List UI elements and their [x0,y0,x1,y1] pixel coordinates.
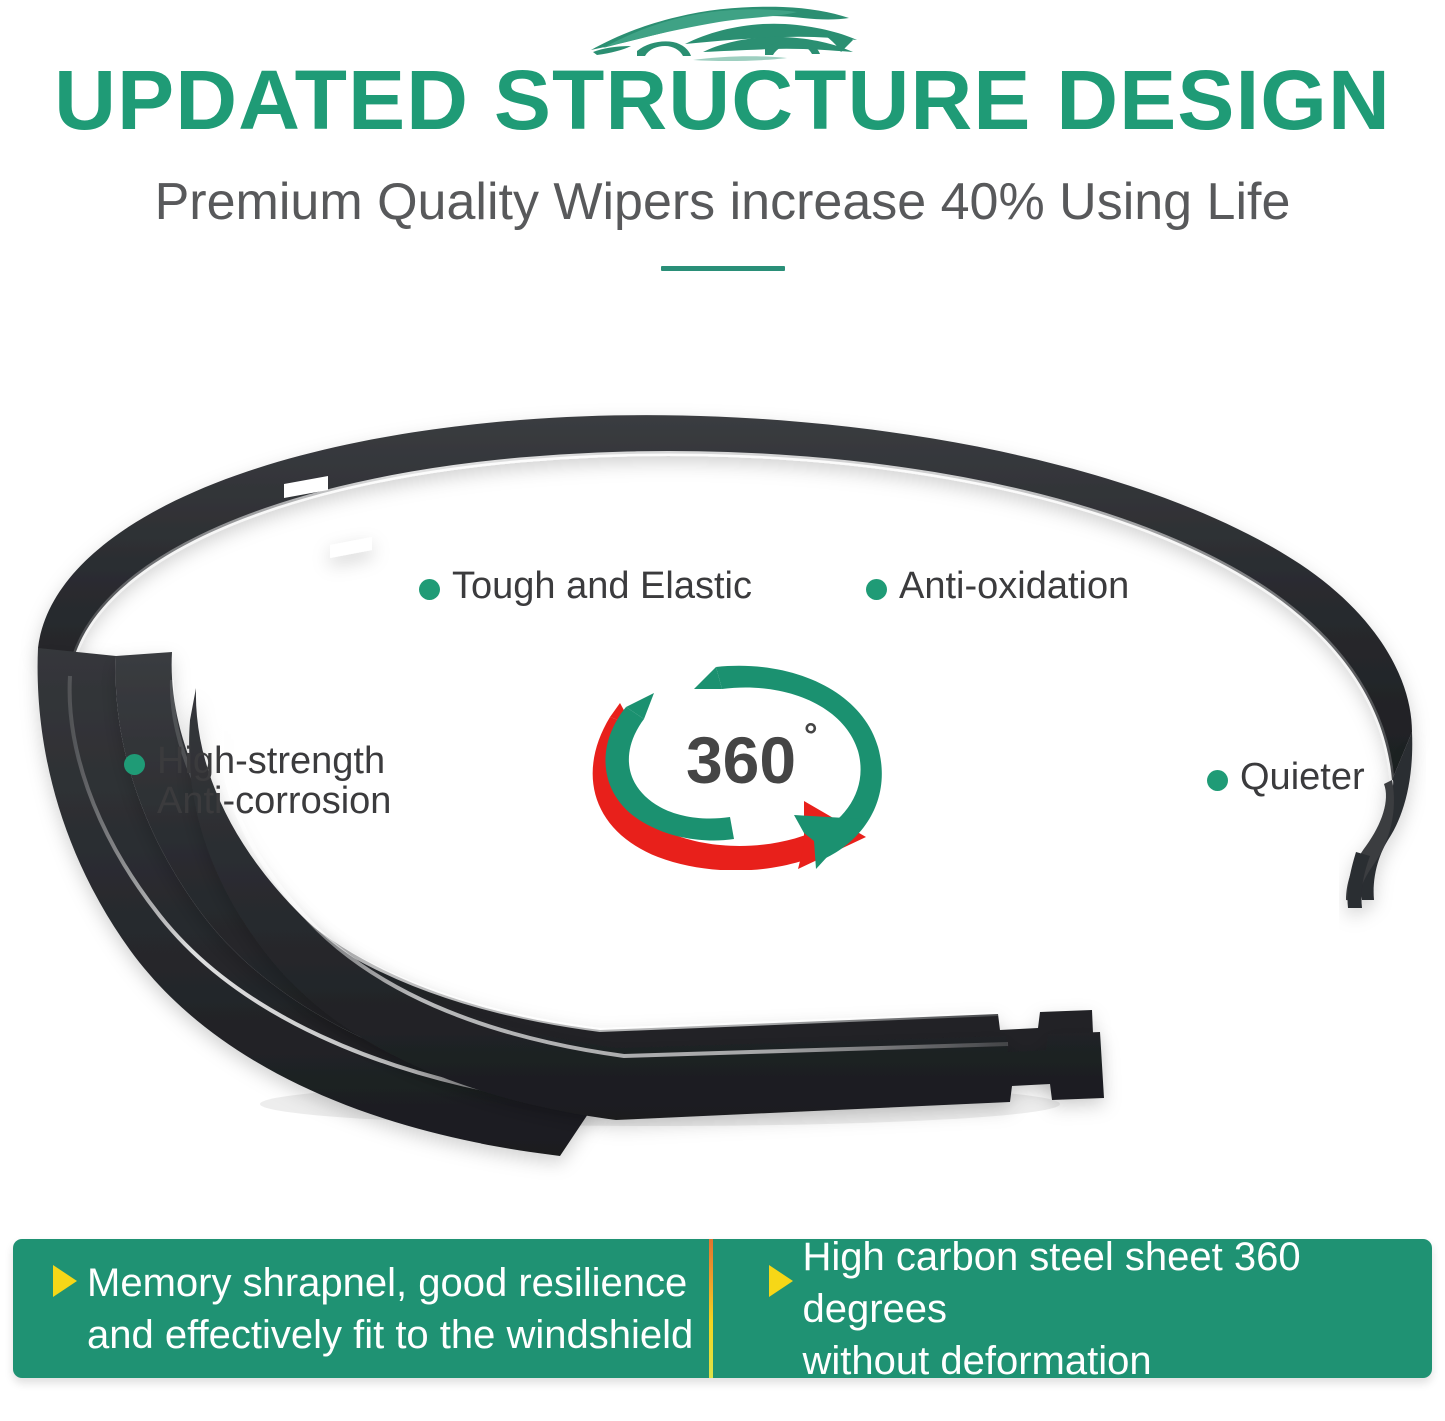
feature-text: High-strength Anti-corrosion [157,741,391,822]
title-divider [661,266,785,271]
feature-label-tough-and-elastic: Tough and Elastic [419,566,752,606]
bullet-dot-icon [1207,770,1228,791]
banner-item-memory-shrapnel: Memory shrapnel, good resilience and eff… [13,1239,723,1378]
infographic-page: UPDATED STRUCTURE DESIGN Premium Quality… [0,0,1445,1421]
banner-item-text: High carbon steel sheet 360 degrees with… [803,1239,1433,1378]
feature-text: Quieter [1240,757,1365,797]
bullet-dot-icon [866,579,887,600]
badge-value: 360 [686,723,796,797]
bottom-feature-banner: Memory shrapnel, good resilience and eff… [13,1239,1432,1378]
bullet-dot-icon [419,579,440,600]
bullet-dot-icon [124,754,145,775]
banner-item-high-carbon-steel: High carbon steel sheet 360 degrees with… [723,1239,1433,1378]
page-subtitle: Premium Quality Wipers increase 40% Usin… [0,176,1445,228]
feature-label-high-strength-anti-corrosion: High-strength Anti-corrosion [124,741,391,822]
feature-text: Tough and Elastic [452,566,752,606]
badge-360-degrees: 360 ° [566,655,916,870]
page-title: UPDATED STRUCTURE DESIGN [0,58,1445,142]
triangle-marker-icon [53,1265,77,1297]
banner-item-text: Memory shrapnel, good resilience and eff… [87,1257,693,1361]
feature-label-quieter: Quieter [1207,757,1365,797]
banner-vertical-divider [709,1239,713,1378]
feature-text: Anti-oxidation [899,566,1129,606]
badge-degree-symbol: ° [804,717,818,755]
triangle-marker-icon [769,1265,793,1297]
feature-label-anti-oxidation: Anti-oxidation [866,566,1129,606]
